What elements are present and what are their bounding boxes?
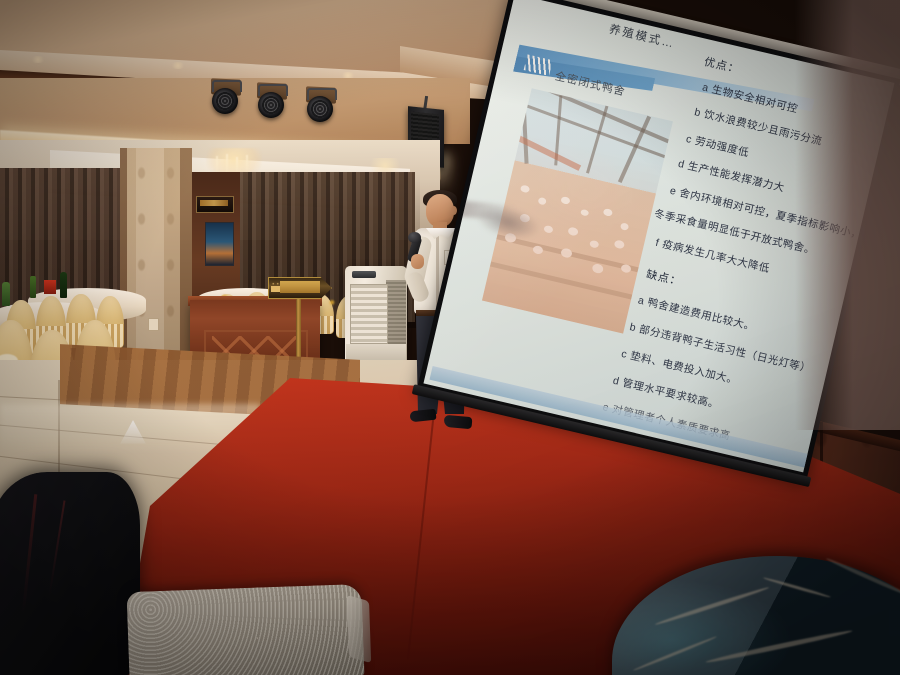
presenter-left-hand xyxy=(411,254,424,269)
recessed-light-icon xyxy=(30,56,46,63)
air-cooler-control-panel[interactable] xyxy=(352,271,376,278)
par-lens-icon xyxy=(262,96,281,115)
bottle xyxy=(60,272,67,298)
toilet-sign-text xyxy=(280,281,320,293)
box xyxy=(44,280,56,294)
photo-scene: 养殖模式… 全密闭式鸭舍 xyxy=(0,0,900,675)
wall-outlet-icon xyxy=(148,318,159,331)
sequin-table-cover xyxy=(126,584,364,675)
presenter-ear xyxy=(451,206,457,215)
framed-poster xyxy=(205,222,234,266)
par-yoke-icon xyxy=(307,88,337,100)
air-cooler-grill-icon xyxy=(350,284,388,344)
par-yoke-icon xyxy=(212,80,242,92)
recessed-light-icon xyxy=(170,62,186,69)
black-bag xyxy=(0,472,140,675)
bottle xyxy=(2,282,10,306)
par-yoke-icon xyxy=(258,84,288,96)
sequin-table-edge xyxy=(347,595,371,663)
microphone-head-icon xyxy=(408,232,421,243)
wall-sign-text xyxy=(200,200,228,206)
screen-right-falloff xyxy=(795,0,900,430)
restroom-person-icon xyxy=(271,281,280,292)
par-lens-icon xyxy=(311,100,330,119)
par-lens-icon xyxy=(216,92,235,111)
bottle xyxy=(30,276,36,298)
